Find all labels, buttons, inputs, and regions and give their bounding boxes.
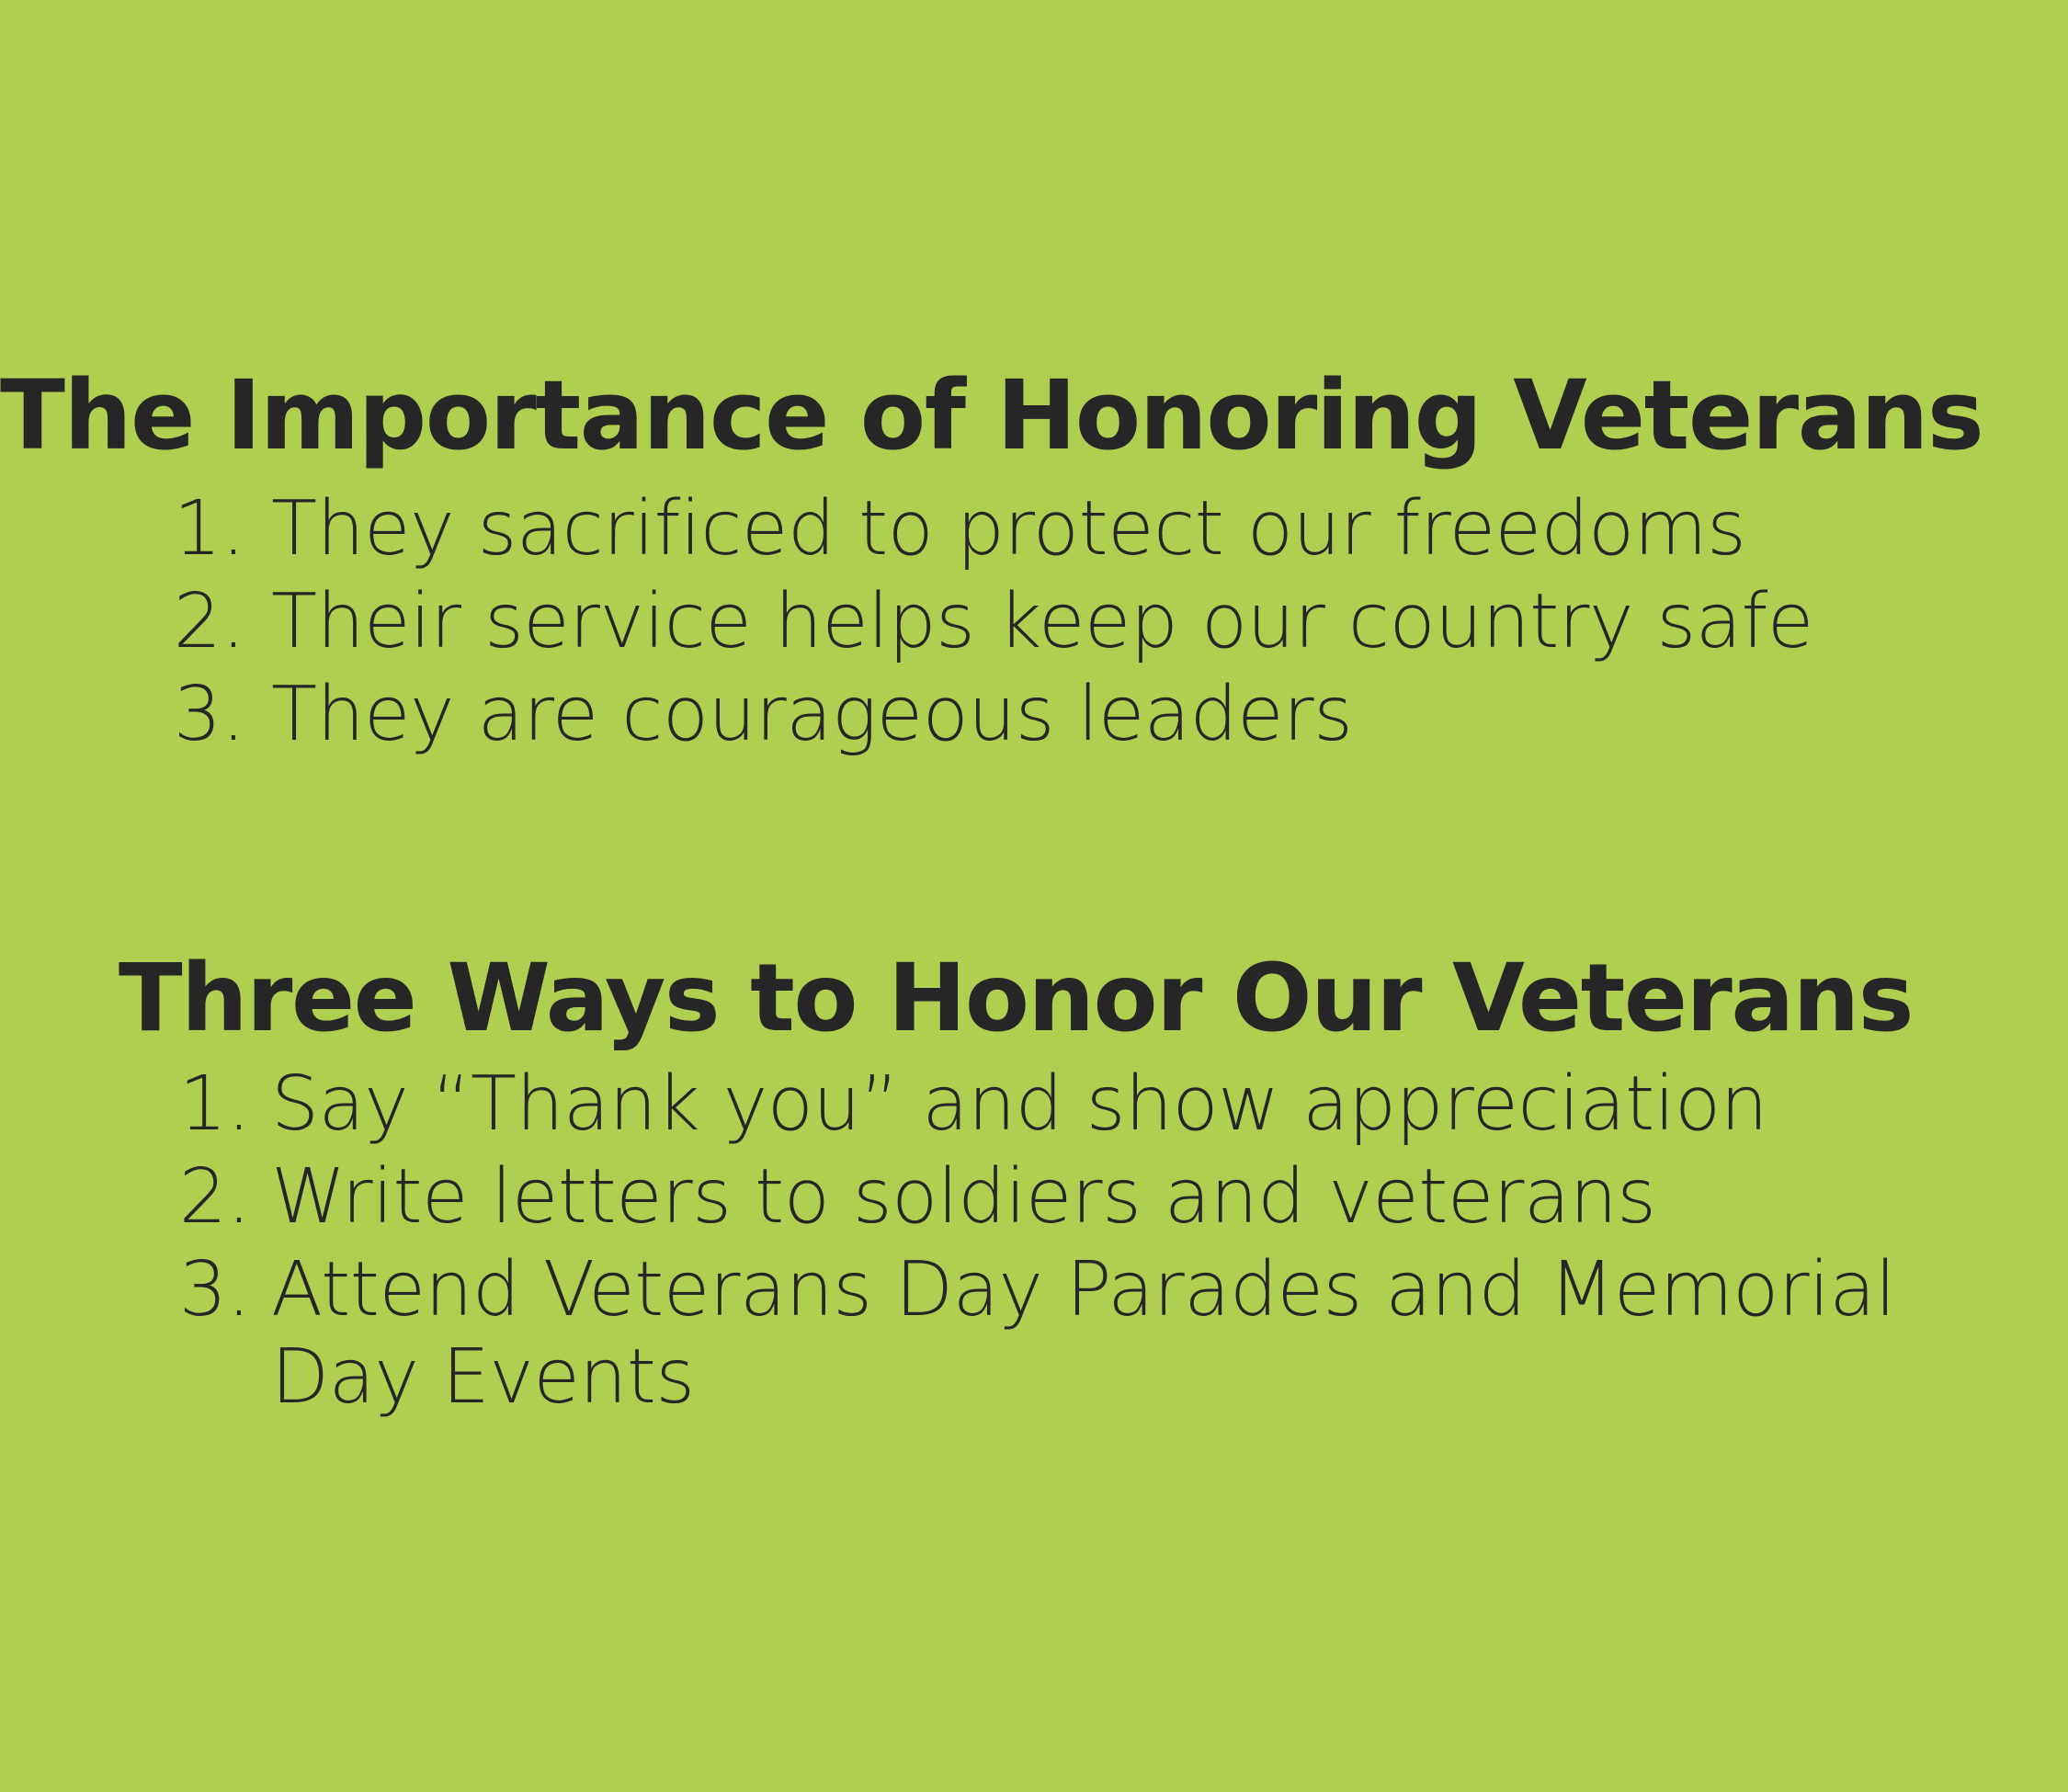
slide-canvas: The Importance of Honoring Veterans 1. T… [0, 0, 2068, 1792]
importance-list: 1. They sacrificed to protect our freedo… [0, 485, 2068, 764]
list-item-number: 2. [37, 1153, 271, 1241]
list-item-number: 1. [37, 485, 271, 573]
list-item: 1. They sacrificed to protect our freedo… [37, 485, 2068, 573]
list-item-number: 3. [37, 1246, 271, 1333]
list-item-label: They sacrificed to protect our freedoms [271, 485, 1916, 573]
list-item: 1. Say “Thank you” and show appreciation [37, 1060, 2068, 1148]
list-item-label: Write letters to soldiers and veterans [271, 1153, 1916, 1241]
list-item-number: 3. [37, 671, 271, 758]
list-item-label: They are courageous leaders [271, 671, 1916, 758]
list-item-label: Their service helps keep our country saf… [271, 578, 1916, 665]
list-item: 2. Their service helps keep our country … [37, 578, 2068, 665]
three-ways-list: 1. Say “Thank you” and show appreciation… [0, 1060, 2068, 1426]
list-item: 3. Attend Veterans Day Parades and Memor… [37, 1246, 2068, 1421]
list-item-number: 1. [37, 1060, 271, 1148]
list-item: 3. They are courageous leaders [37, 671, 2068, 758]
list-item: 2. Write letters to soldiers and veteran… [37, 1153, 2068, 1241]
list-item-label: Attend Veterans Day Parades and Memorial… [271, 1246, 1916, 1421]
section-heading-three-ways: Three Ways to Honor Our Veterans [0, 952, 2068, 1046]
list-item-number: 2. [37, 578, 271, 665]
section-heading-importance: The Importance of Honoring Veterans [0, 368, 2068, 463]
list-item-label: Say “Thank you” and show appreciation [271, 1060, 1916, 1148]
